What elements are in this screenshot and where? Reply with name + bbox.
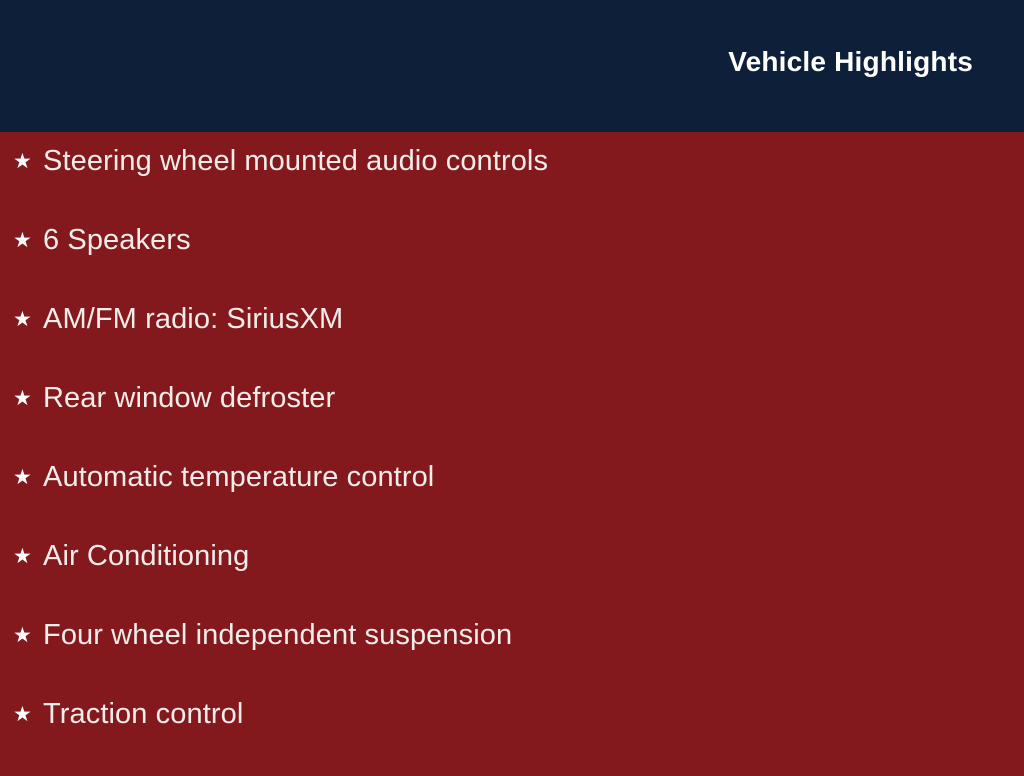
list-item: ★ Traction control: [0, 697, 1024, 776]
star-icon: ★: [13, 226, 43, 254]
star-icon: ★: [13, 542, 43, 570]
list-item: ★ Rear window defroster: [0, 381, 1024, 460]
list-item-label: 6 Speakers: [43, 223, 191, 257]
list-item: ★ Steering wheel mounted audio controls: [0, 144, 1024, 223]
star-icon: ★: [13, 700, 43, 728]
list-item-label: Four wheel independent suspension: [43, 618, 512, 652]
slide-header: Vehicle Highlights: [0, 0, 1024, 132]
star-icon: ★: [13, 305, 43, 333]
list-item-label: Automatic temperature control: [43, 460, 434, 494]
list-item-label: Traction control: [43, 697, 243, 731]
list-item-label: Rear window defroster: [43, 381, 335, 415]
list-item-label: Air Conditioning: [43, 539, 249, 573]
list-item: ★ Air Conditioning: [0, 539, 1024, 618]
page-title: Vehicle Highlights: [728, 45, 973, 79]
slide: Vehicle Highlights ★ Steering wheel moun…: [0, 0, 1024, 768]
vehicle-highlights-list: ★ Steering wheel mounted audio controls …: [0, 144, 1024, 776]
list-item: ★ Automatic temperature control: [0, 460, 1024, 539]
star-icon: ★: [13, 463, 43, 491]
list-item: ★ AM/FM radio: SiriusXM: [0, 302, 1024, 381]
star-icon: ★: [13, 384, 43, 412]
list-item-label: AM/FM radio: SiriusXM: [43, 302, 343, 336]
list-item: ★ 6 Speakers: [0, 223, 1024, 302]
list-item-label: Steering wheel mounted audio controls: [43, 144, 548, 178]
slide-body: ★ Steering wheel mounted audio controls …: [0, 132, 1024, 768]
list-item: ★ Four wheel independent suspension: [0, 618, 1024, 697]
star-icon: ★: [13, 147, 43, 175]
star-icon: ★: [13, 621, 43, 649]
